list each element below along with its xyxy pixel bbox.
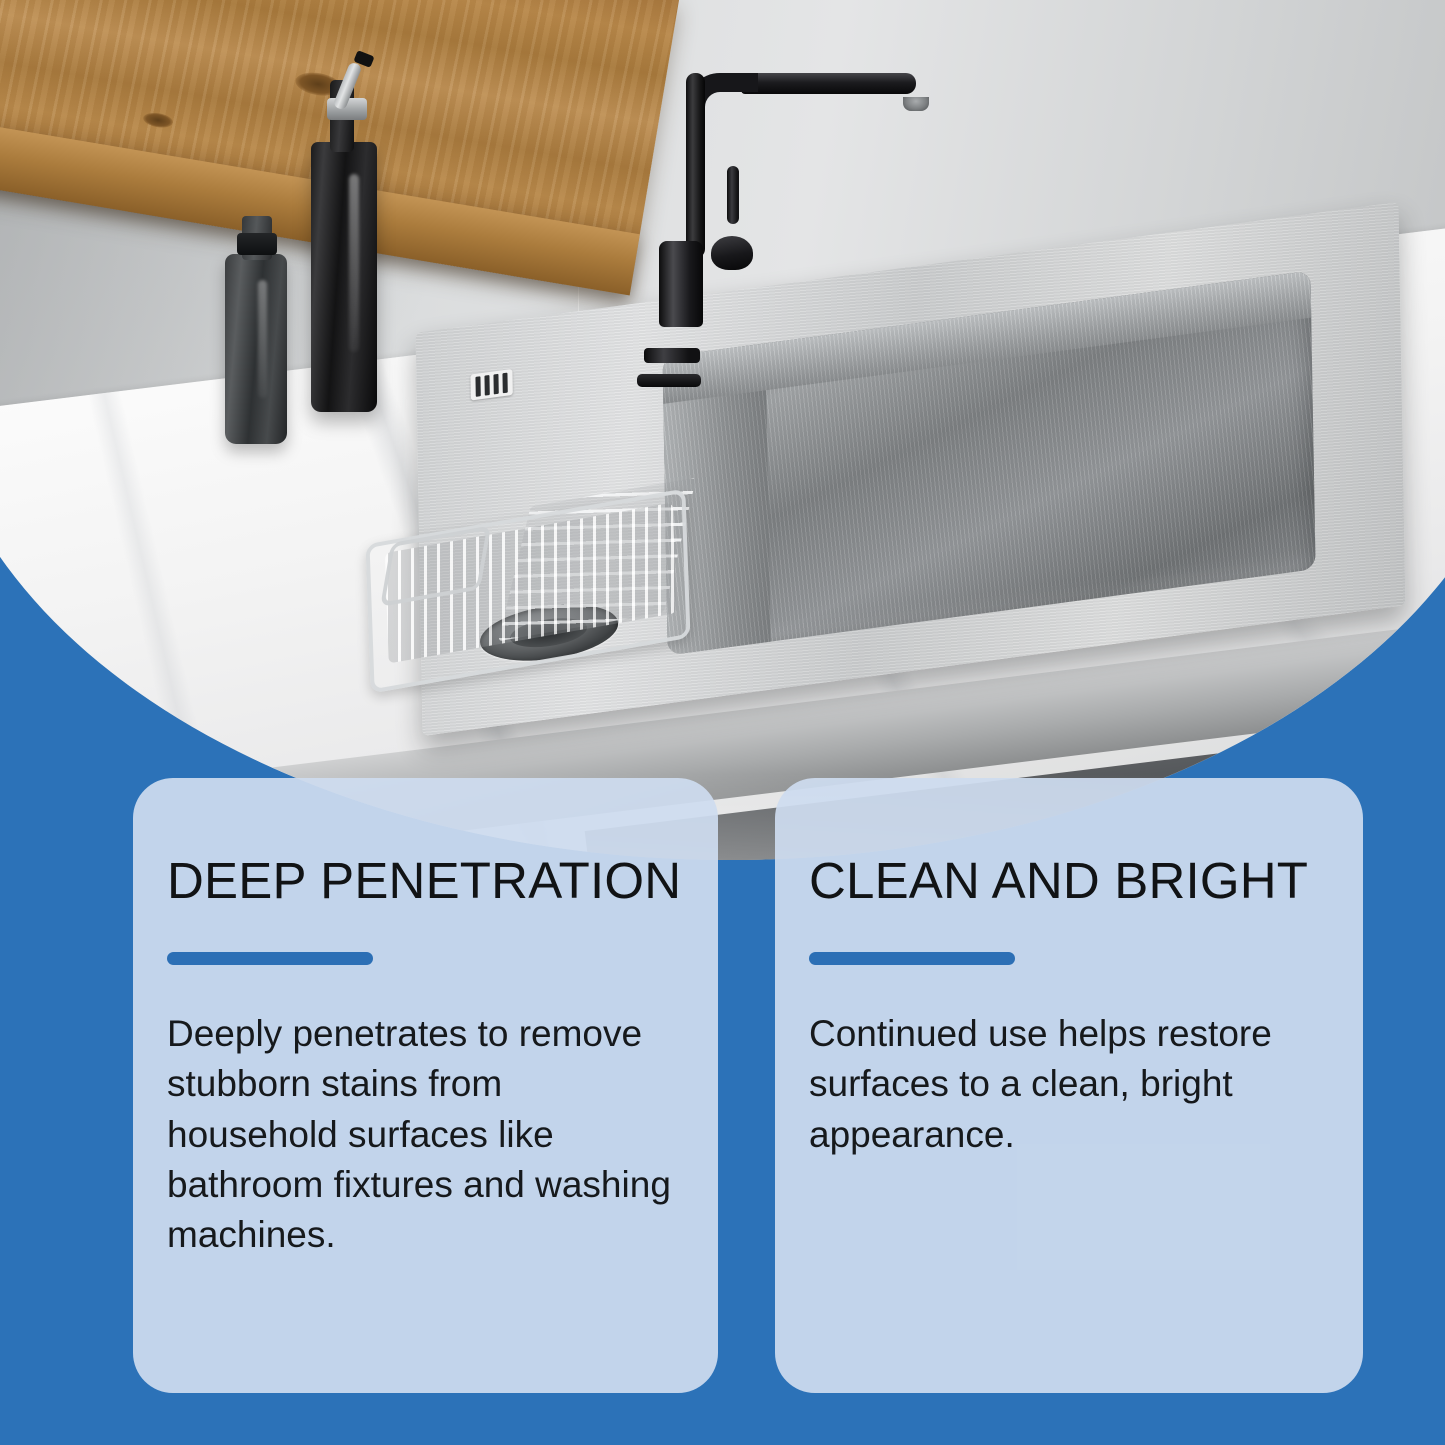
- product-feature-banner: DEEP PENETRATION Deeply penetrates to re…: [0, 0, 1445, 1445]
- faucet-handle-knob: [711, 236, 753, 270]
- faucet-riser: [686, 73, 705, 258]
- photo-rounded-mask: [0, 0, 1445, 860]
- faucet-lever-handle: [727, 166, 739, 224]
- faucet-aerator-tip: [903, 97, 929, 111]
- accent-bar: [167, 952, 373, 965]
- photo-content: [0, 0, 1445, 860]
- faucet-base-plate: [637, 374, 701, 387]
- faucet-collar: [644, 348, 700, 363]
- card-body-text: Deeply penetrates to remove stubborn sta…: [167, 1009, 682, 1261]
- short-glass-bottle: [225, 254, 287, 444]
- tall-oil-bottle: [311, 142, 377, 412]
- card-title: CLEAN AND BRIGHT: [809, 852, 1327, 910]
- faucet-spout-arm: [741, 73, 916, 94]
- accent-bar: [809, 952, 1015, 965]
- bottle-highlight: [258, 280, 267, 398]
- kitchen-scene: [0, 0, 1445, 860]
- overflow-vent-icon: [470, 368, 512, 400]
- feature-card-clean-and-bright: CLEAN AND BRIGHT Continued use helps res…: [775, 778, 1363, 1393]
- short-bottle-cap: [237, 233, 277, 255]
- feature-card-deep-penetration: DEEP PENETRATION Deeply penetrates to re…: [133, 778, 718, 1393]
- card-title: DEEP PENETRATION: [167, 852, 682, 910]
- bottle-highlight: [349, 174, 359, 352]
- card-body-text: Continued use helps restore surfaces to …: [809, 1009, 1327, 1160]
- faucet-base-column: [659, 241, 703, 327]
